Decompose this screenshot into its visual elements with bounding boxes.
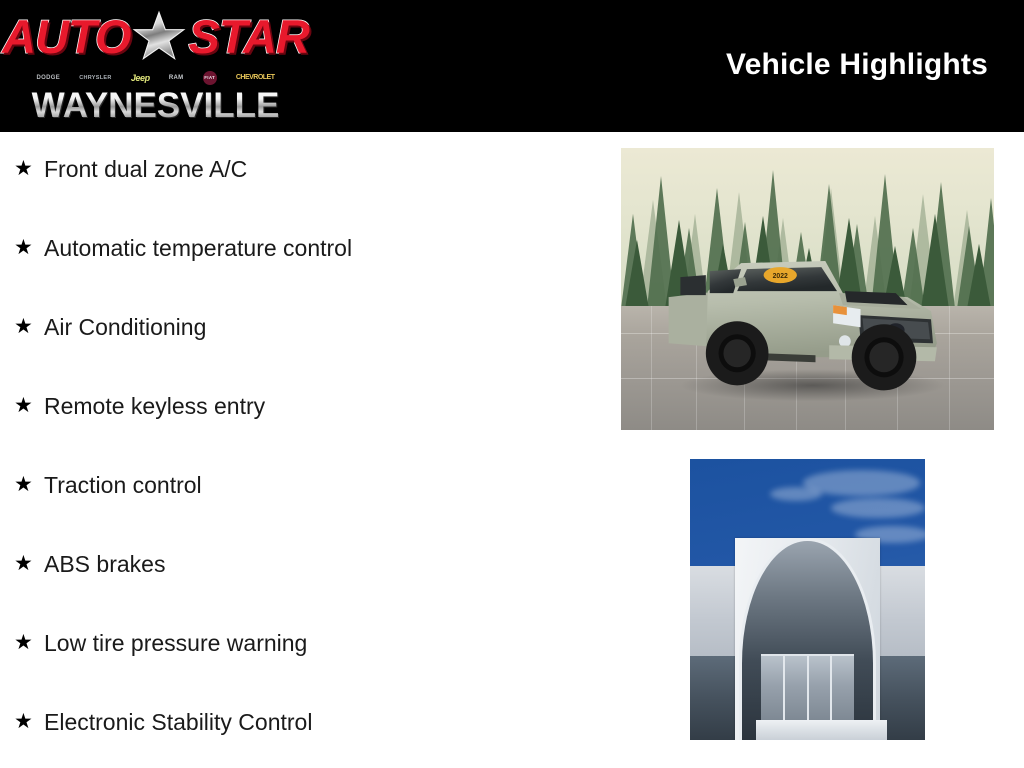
star-bullet-icon: ★ <box>14 312 44 342</box>
star-bullet-icon: ★ <box>14 391 44 421</box>
logo-city-name: WAYNESVILLE <box>28 88 283 124</box>
entrance-canopy <box>756 720 888 740</box>
star-bullet-icon: ★ <box>14 549 44 579</box>
toyota-tacoma-truck: 2022 <box>651 235 964 401</box>
dealership-photo[interactable]: Waynesville <box>690 459 925 740</box>
logo-word-star: STAR <box>188 8 308 66</box>
vehicle-features-list: ★ Front dual zone A/C ★ Automatic temper… <box>0 132 600 768</box>
page-title: Vehicle Highlights <box>726 48 988 82</box>
vehicle-photo[interactable]: 2022 <box>621 148 994 430</box>
list-item: ★ Remote keyless entry <box>0 391 600 470</box>
svg-text:2022: 2022 <box>772 273 787 280</box>
star-bullet-icon: ★ <box>14 233 44 263</box>
list-item: ★ Front dual zone A/C <box>0 154 600 233</box>
ram-logo: RAM <box>169 73 184 83</box>
feature-label: Remote keyless entry <box>44 391 265 421</box>
list-item: ★ Traction control <box>0 470 600 549</box>
list-item: ★ Automatic temperature control <box>0 233 600 312</box>
star-bullet-icon: ★ <box>14 628 44 658</box>
list-item: ★ Air Conditioning <box>0 312 600 391</box>
dodge-logo: DODGE <box>37 73 61 83</box>
dealer-logo[interactable]: AUTO <box>28 8 283 126</box>
feature-label: Electronic Stability Control <box>44 707 312 737</box>
list-item: ★ Low tire pressure warning <box>0 628 600 707</box>
feature-label: Traction control <box>44 470 202 500</box>
header-bar: AUTO <box>0 0 1024 132</box>
jeep-logo: Jeep <box>131 73 150 83</box>
list-item: ★ Electronic Stability Control <box>0 707 600 768</box>
manufacturer-logo-strip: DODGE CHRYSLER Jeep RAM FIAT CHEVROLET <box>31 69 281 87</box>
feature-label: ABS brakes <box>44 549 165 579</box>
vehicle-highlights-slide: AUTO <box>0 0 1024 768</box>
star-bullet-icon: ★ <box>14 154 44 184</box>
logo-word-auto: AUTO <box>2 8 130 66</box>
cloud <box>770 487 822 501</box>
list-item: ★ ABS brakes <box>0 549 600 628</box>
star-bullet-icon: ★ <box>14 707 44 737</box>
chevrolet-logo: CHEVROLET <box>236 73 275 83</box>
star-icon <box>132 10 186 64</box>
feature-label: Front dual zone A/C <box>44 154 247 184</box>
feature-label: Automatic temperature control <box>44 233 352 263</box>
feature-label: Low tire pressure warning <box>44 628 307 658</box>
star-bullet-icon: ★ <box>14 470 44 500</box>
chrysler-logo: CHRYSLER <box>79 73 111 83</box>
dealer-logo-wordmark: AUTO <box>31 8 281 66</box>
feature-label: Air Conditioning <box>44 312 206 342</box>
cloud <box>831 498 925 518</box>
fiat-logo: FIAT <box>203 71 217 85</box>
